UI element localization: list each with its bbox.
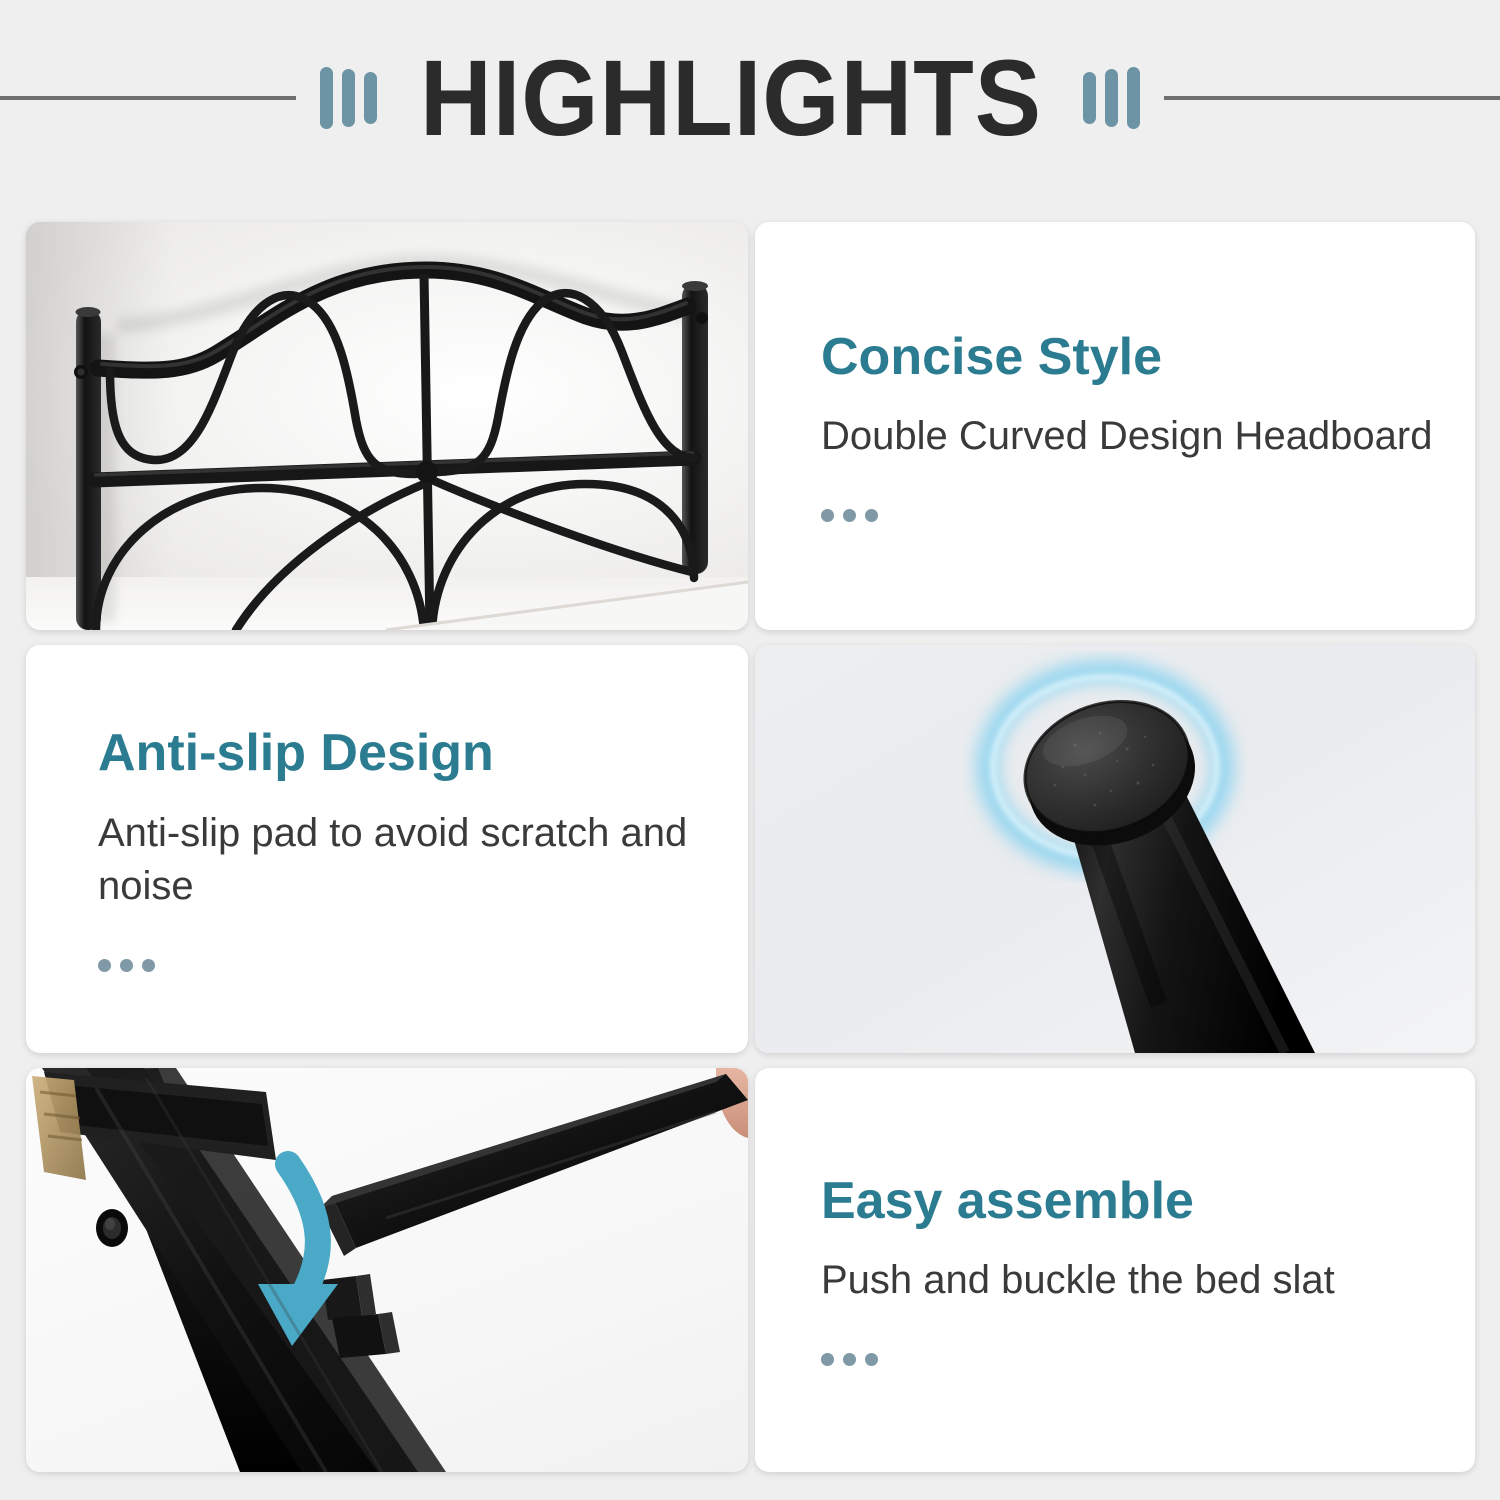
feature-description: Anti-slip pad to avoid scratch and noise (98, 807, 730, 913)
feature-title: Anti-slip Design (98, 726, 730, 781)
headboard-illustration (26, 222, 748, 630)
assembly-photo (26, 1068, 748, 1472)
ellipsis-dot (120, 959, 133, 972)
tick-mark-icon (364, 72, 377, 124)
feature-text-card-concise-style: Concise Style Double Curved Design Headb… (755, 222, 1475, 630)
ellipsis-dot (821, 509, 834, 522)
page-header: HIGHLIGHTS (0, 0, 1500, 196)
ellipsis-dot (98, 959, 111, 972)
feature-text-card-easy-assemble: Easy assemble Push and buckle the bed sl… (755, 1068, 1475, 1472)
tick-mark-icon (1127, 67, 1140, 129)
ellipsis-indicator (98, 959, 730, 972)
ellipsis-dot (142, 959, 155, 972)
ellipsis-dot (821, 1353, 834, 1366)
feature-text-card-anti-slip-design: Anti-slip Design Anti-slip pad to avoid … (26, 645, 748, 1053)
tick-mark-icon (320, 67, 333, 129)
header-tick-group-right (1083, 67, 1140, 129)
ellipsis-indicator (821, 509, 1451, 522)
ellipsis-dot (865, 1353, 878, 1366)
feature-image-card-anti-slip-design (755, 645, 1475, 1053)
ellipsis-dot (843, 509, 856, 522)
anti-slip-photo (755, 645, 1475, 1053)
header-divider-left (0, 96, 296, 100)
header-tick-group-left (320, 67, 377, 129)
tick-mark-icon (1105, 69, 1118, 127)
ellipsis-indicator (821, 1353, 1451, 1366)
bed-leg-illustration (755, 645, 1475, 1053)
feature-grid: Concise Style Double Curved Design Headb… (26, 222, 1475, 1472)
tick-mark-icon (1083, 72, 1096, 124)
feature-title: Concise Style (821, 330, 1451, 385)
bed-slat-buckle-illustration (26, 1068, 748, 1472)
ellipsis-dot (865, 509, 878, 522)
ellipsis-dot (843, 1353, 856, 1366)
feature-image-card-concise-style (26, 222, 748, 630)
feature-title: Easy assemble (821, 1174, 1451, 1229)
feature-description: Double Curved Design Headboard (821, 410, 1451, 463)
header-divider-right (1164, 96, 1500, 100)
headboard-photo (26, 222, 748, 630)
tick-mark-icon (342, 69, 355, 127)
feature-description: Push and buckle the bed slat (821, 1254, 1451, 1307)
feature-image-card-easy-assemble (26, 1068, 748, 1472)
highlights-infographic: HIGHLIGHTS (0, 0, 1500, 1500)
page-title: HIGHLIGHTS (420, 44, 1042, 152)
